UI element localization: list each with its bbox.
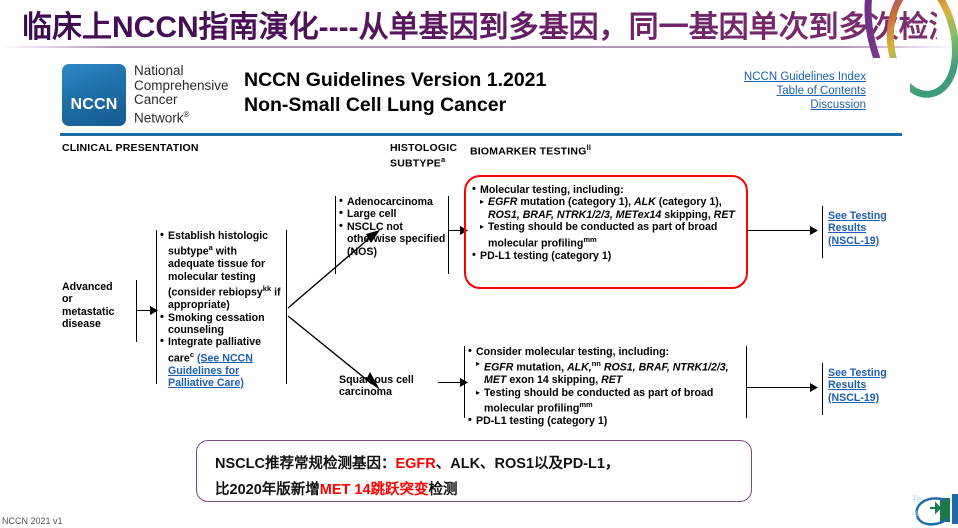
presentation-line-4: disease (62, 318, 132, 330)
workup-left-rule (156, 230, 157, 384)
results-link-bottom: See Testing Results (NSCL-19) (828, 367, 910, 404)
link-see-testing-results-bottom[interactable]: See Testing Results (NSCL-19) (828, 367, 910, 404)
results-top-left-rule (822, 206, 823, 258)
biomarker-nonsquamous-text: Molecular testing, including: EGFR mutat… (472, 184, 740, 262)
page-title: 临床上NCCN指南演化----从单基因到多基因，同一基因单次到多次检测 (22, 8, 937, 48)
summary-line-1: NSCLC推荐常规检测基因：EGFR、ALK、ROS1以及PD-L1， (215, 451, 733, 477)
biomarker-bottom-left-rule (464, 346, 465, 418)
biomarker-bottom-right-rule (746, 346, 747, 418)
connector-biomarker-bottom-out (746, 387, 812, 388)
partner-logo-icon: Te re (896, 484, 958, 528)
svg-text:re: re (912, 509, 920, 518)
nccn-org-line-2: Comprehensive (134, 79, 256, 94)
biomarker-bullet-molecular-testing: Molecular testing, including: (472, 184, 740, 196)
connector-vertical-presentation (136, 280, 137, 342)
nccn-organization-name: National Comprehensive Cancer Network® (134, 64, 256, 126)
nccn-org-line-3: Cancer (134, 93, 256, 108)
connector-histology-bottom (438, 382, 462, 383)
histology-top-left-rule (335, 196, 336, 274)
title-divider (0, 46, 958, 48)
header-divider (60, 133, 902, 136)
biomarker-sq-bullet-pdl1: PD-L1 testing (category 1) (468, 415, 736, 427)
presentation-line-2: or (62, 293, 132, 305)
nccn-org-line-1: National (134, 64, 256, 79)
column-header-histologic-subtype: HISTOLOGICSUBTYPEa (390, 142, 457, 170)
histology-nonsquamous-text: Adenocarcinoma Large cell NSCLC not othe… (339, 196, 447, 258)
header-links: NCCN Guidelines Index Table of Contents … (744, 70, 866, 112)
workup-item-2: Smoking cessation counseling (160, 312, 284, 337)
link-see-testing-results-top[interactable]: See Testing Results (NSCL-19) (828, 210, 910, 247)
nccn-logo: NCCN (62, 64, 126, 126)
workup-item-3: Integrate palliative carec (See NCCN Gui… (160, 336, 284, 389)
arrowhead-icon-results-top (810, 226, 818, 235)
histology-top-right-rule (448, 196, 449, 274)
svg-text:Te: Te (912, 494, 922, 504)
results-bottom-left-rule (822, 363, 823, 415)
column-header-clinical-presentation: CLINICAL PRESENTATION (62, 142, 199, 154)
guideline-subject: Non-Small Cell Lung Cancer (244, 93, 546, 118)
biomarker-sq-bullet-consider: Consider molecular testing, including: (468, 346, 736, 358)
slide-footer: NCCN 2021 v1 (2, 516, 63, 526)
results-link-top: See Testing Results (NSCL-19) (828, 210, 910, 247)
link-table-of-contents[interactable]: Table of Contents (744, 84, 866, 98)
biomarker-sub-gene-list: EGFR mutation (category 1), ALK (categor… (472, 196, 740, 221)
nccn-guideline-panel: NCCN National Comprehensive Cancer Netwo… (52, 58, 910, 434)
guideline-version: NCCN Guidelines Version 1.2021 (244, 68, 546, 93)
squamous-line-1: Squamous cell (339, 374, 435, 386)
link-guidelines-index[interactable]: NCCN Guidelines Index (744, 70, 866, 84)
presentation-line-1: Advanced (62, 281, 132, 293)
biomarker-bullet-pdl1: PD-L1 testing (category 1) (472, 250, 740, 262)
biomarker-sq-sub-gene-list: EGFR mutation, ALK,nn ROS1, BRAF, NTRK1/… (468, 358, 736, 386)
summary-line-2: 比2020年版新增MET 14跳跃突变检测 (215, 477, 733, 503)
biomarker-sq-sub-broad-profiling: Testing should be conducted as part of b… (468, 387, 736, 415)
connector-biomarker-top-out (748, 230, 812, 231)
workup-item-1: Establish histologic subtypea with adequ… (160, 230, 284, 312)
biomarker-squamous-text: Consider molecular testing, including: E… (468, 346, 736, 428)
histology-item-nsclc-nos: NSCLC not otherwise specified (NOS) (339, 221, 447, 258)
workup-text: Establish histologic subtypea with adequ… (160, 230, 284, 389)
biomarker-sub-broad-profiling: Testing should be conducted as part of b… (472, 221, 740, 249)
histology-item-adenocarcinoma: Adenocarcinoma (339, 196, 447, 208)
summary-callout-box: NSCLC推荐常规检测基因：EGFR、ALK、ROS1以及PD-L1， 比202… (196, 440, 752, 502)
squamous-line-2: carcinoma (339, 386, 435, 398)
presentation-line-3: metastatic (62, 306, 132, 318)
histology-squamous-text: Squamous cell carcinoma (339, 374, 435, 399)
histology-item-large-cell: Large cell (339, 208, 447, 220)
guideline-title: NCCN Guidelines Version 1.2021 Non-Small… (244, 68, 546, 118)
clinical-presentation-text: Advanced or metastatic disease (62, 281, 132, 331)
column-header-biomarker-testing: BIOMARKER TESTINGll (470, 142, 591, 158)
link-discussion[interactable]: Discussion (744, 98, 866, 112)
nccn-org-line-4: Network® (134, 108, 256, 126)
arrowhead-icon-results-bottom (810, 383, 818, 392)
